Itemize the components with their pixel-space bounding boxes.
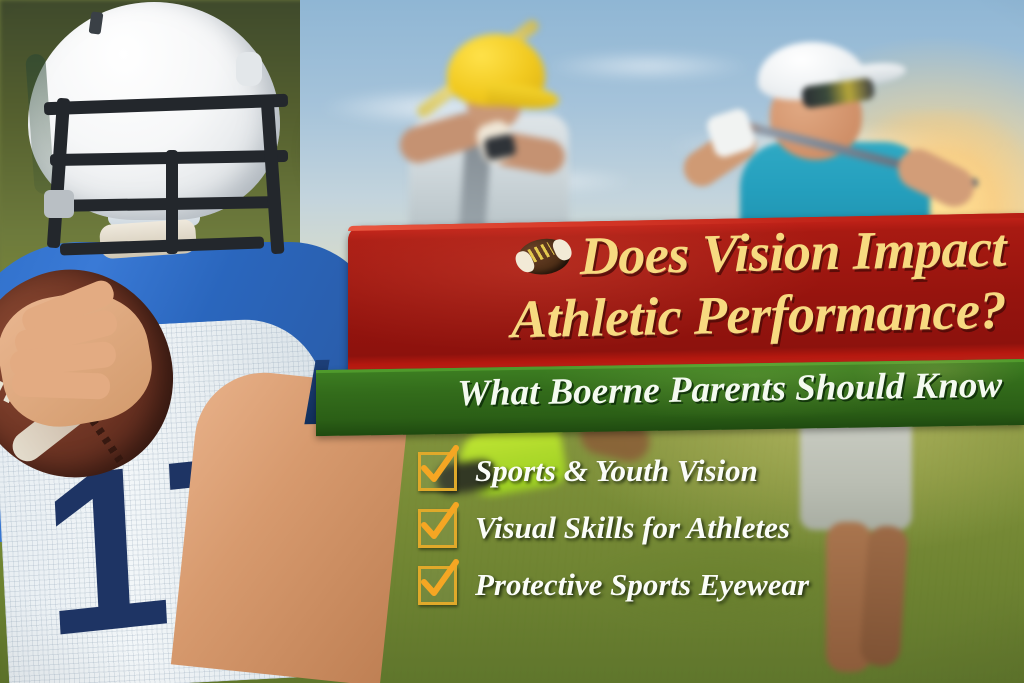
baseball-batter-photo: [395, 10, 605, 225]
facemask: [38, 90, 288, 258]
checkbox-checked-icon: [418, 509, 457, 548]
headline-block: Does Vision Impact Athletic Performance?: [348, 200, 1018, 371]
headline-line-2: Athletic Performance?: [348, 279, 1018, 354]
list-item-label: Visual Skills for Athletes: [475, 510, 790, 546]
headline-line-1: Does Vision Impact: [580, 217, 1006, 287]
helmet-ear-pad: [236, 52, 262, 86]
checkbox-checked-icon: [418, 566, 457, 605]
facemask-clip: [44, 190, 74, 218]
feature-list: Sports & Youth Vision Visual Skills for …: [418, 444, 888, 615]
poster-graphic: 17: [0, 0, 1024, 683]
football-icon: [511, 233, 576, 280]
list-item-label: Protective Sports Eyewear: [475, 567, 809, 603]
list-item: Sports & Youth Vision: [418, 444, 888, 498]
football-quarterback-photo: 17: [0, 0, 390, 683]
list-item: Visual Skills for Athletes: [418, 501, 888, 555]
subtitle-text: What Boerne Parents Should Know: [316, 352, 1010, 431]
list-item: Protective Sports Eyewear: [418, 558, 888, 612]
checkbox-checked-icon: [418, 452, 457, 491]
player-finger: [12, 370, 111, 399]
list-item-label: Sports & Youth Vision: [475, 453, 758, 489]
